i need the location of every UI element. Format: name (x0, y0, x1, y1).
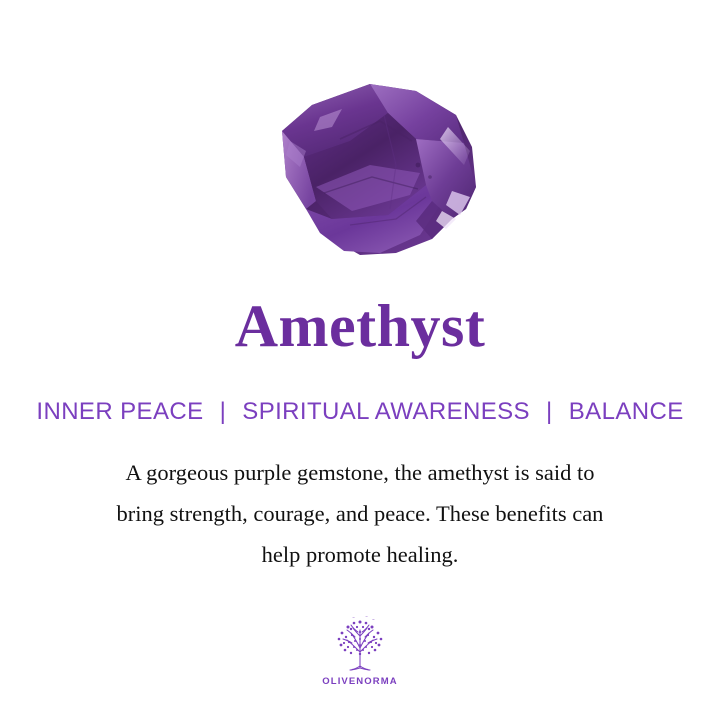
amethyst-info-card: Amethyst INNER PEACE | SPIRITUAL AWARENE… (0, 0, 720, 720)
tagline-item-inner-peace: INNER PEACE (36, 398, 203, 425)
tagline-item-balance: BALANCE (569, 398, 684, 425)
description-paragraph: A gorgeous purple gemstone, the amethyst… (40, 452, 680, 575)
description-line: help promote healing. (40, 534, 680, 575)
gemstone-image (0, 66, 720, 271)
tagline-separator: | (211, 399, 236, 425)
tree-of-life-icon (328, 612, 392, 674)
keyword-tagline: INNER PEACE | SPIRITUAL AWARENESS | BALA… (0, 399, 720, 425)
brand-logo: OLIVENORMA (0, 612, 720, 687)
page-title: Amethyst (0, 296, 720, 356)
raw-amethyst-crystal-icon (220, 69, 500, 269)
tagline-item-spiritual-awareness: SPIRITUAL AWARENESS (242, 398, 530, 425)
brand-wordmark: OLIVENORMA (322, 676, 397, 687)
description-line: A gorgeous purple gemstone, the amethyst… (40, 452, 680, 493)
description-line: bring strength, courage, and peace. Thes… (40, 493, 680, 534)
tagline-separator: | (537, 399, 562, 425)
